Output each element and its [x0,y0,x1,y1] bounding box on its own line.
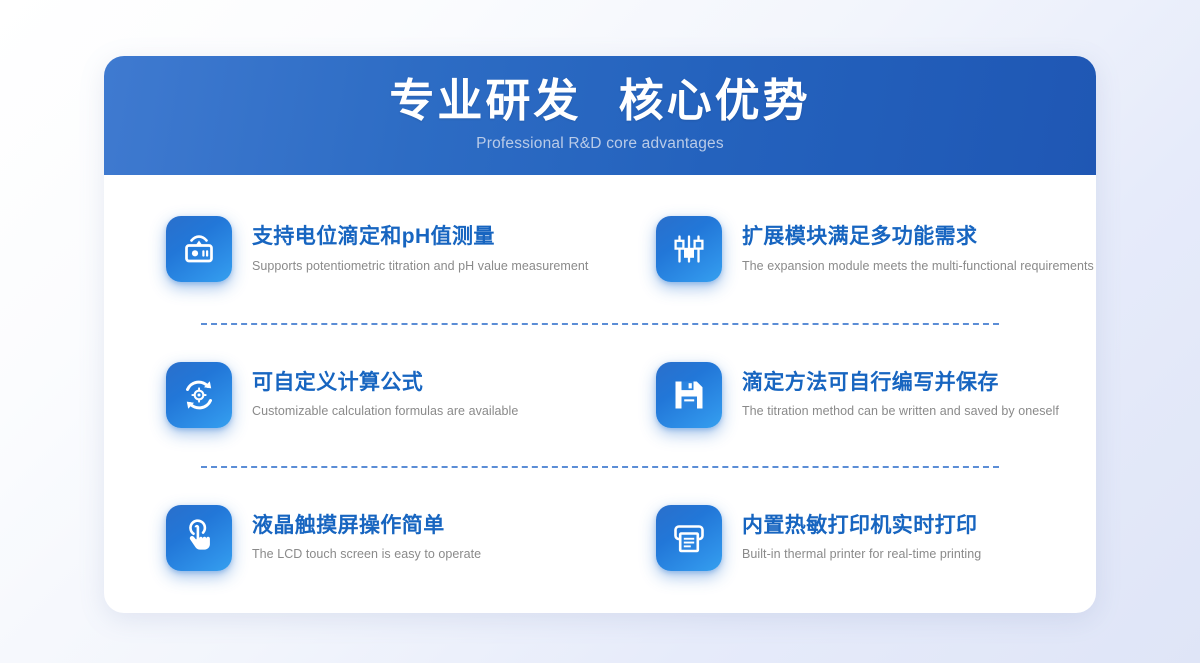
feature-text: 液晶触摸屏操作简单 The LCD touch screen is easy t… [252,513,481,563]
section-divider [201,323,999,325]
feature-title: 可自定义计算公式 [252,370,518,396]
page-subtitle: Professional R&D core advantages [476,135,724,153]
feature-item-save-method[interactable]: 滴定方法可自行编写并保存 The titration method can be… [656,362,1096,428]
feature-title: 支持电位滴定和pH值测量 [252,224,588,250]
advantages-card: 专业研发 核心优势 Professional R&D core advantag… [104,56,1096,613]
feature-title: 内置热敏打印机实时打印 [742,513,981,539]
feature-desc: The titration method can be written and … [742,403,1059,419]
thermal-printer-icon [656,505,722,571]
feature-row: 可自定义计算公式 Customizable calculation formul… [104,323,1096,466]
titration-meter-icon [166,216,232,282]
page-title: 专业研发 核心优势 [389,71,810,132]
floppy-save-icon [656,362,722,428]
feature-text: 扩展模块满足多功能需求 The expansion module meets t… [742,224,1094,274]
feature-desc: Built-in thermal printer for real-time p… [742,546,981,562]
section-divider [201,466,999,468]
feature-title: 液晶触摸屏操作简单 [252,513,481,539]
feature-desc: Supports potentiometric titration and pH… [252,258,588,274]
feature-text: 滴定方法可自行编写并保存 The titration method can be… [742,370,1059,420]
feature-desc: The expansion module meets the multi-fun… [742,258,1094,274]
feature-title: 扩展模块满足多功能需求 [742,224,1094,250]
feature-item-touchscreen[interactable]: 液晶触摸屏操作简单 The LCD touch screen is easy t… [166,505,656,571]
feature-item-formula[interactable]: 可自定义计算公式 Customizable calculation formul… [166,362,656,428]
feature-title: 滴定方法可自行编写并保存 [742,370,1059,396]
feature-row: 液晶触摸屏操作简单 The LCD touch screen is easy t… [104,466,1096,609]
expansion-module-sliders-icon [656,216,722,282]
feature-row: 支持电位滴定和pH值测量 Supports potentiometric tit… [104,175,1096,323]
touch-hand-icon [166,505,232,571]
feature-desc: Customizable calculation formulas are av… [252,403,518,419]
feature-text: 可自定义计算公式 Customizable calculation formul… [252,370,518,420]
features-body: 支持电位滴定和pH值测量 Supports potentiometric tit… [104,175,1096,613]
feature-item-printer[interactable]: 内置热敏打印机实时打印 Built-in thermal printer for… [656,505,1096,571]
feature-item-expansion[interactable]: 扩展模块满足多功能需求 The expansion module meets t… [656,216,1096,282]
feature-desc: The LCD touch screen is easy to operate [252,546,481,562]
feature-text: 内置热敏打印机实时打印 Built-in thermal printer for… [742,513,981,563]
sync-gear-formula-icon [166,362,232,428]
card-header: 专业研发 核心优势 Professional R&D core advantag… [104,56,1096,175]
feature-item-titration[interactable]: 支持电位滴定和pH值测量 Supports potentiometric tit… [166,216,656,282]
feature-text: 支持电位滴定和pH值测量 Supports potentiometric tit… [252,224,588,274]
